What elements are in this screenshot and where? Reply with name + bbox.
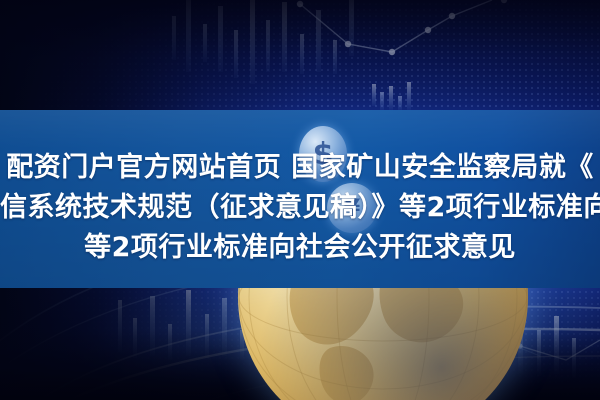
headline-line-1: 配资门户官方网站首页 国家矿山安全监察局就《 (0, 148, 600, 188)
headline-text: 配资门户官方网站首页 国家矿山安全监察局就《 信系统技术规范（征求意见稿）》等2… (0, 148, 600, 268)
banner-image: $ ¥ 配资门户官方网站首页 国家矿山安全监察局就《 信系统技术规范（征求意见稿… (0, 0, 600, 400)
headline-line-3: 等2项行业标准向社会公开征求意见 (0, 228, 600, 268)
headline-line-2: 信系统技术规范（征求意见稿）》等2项行业标准向社 (0, 188, 600, 228)
